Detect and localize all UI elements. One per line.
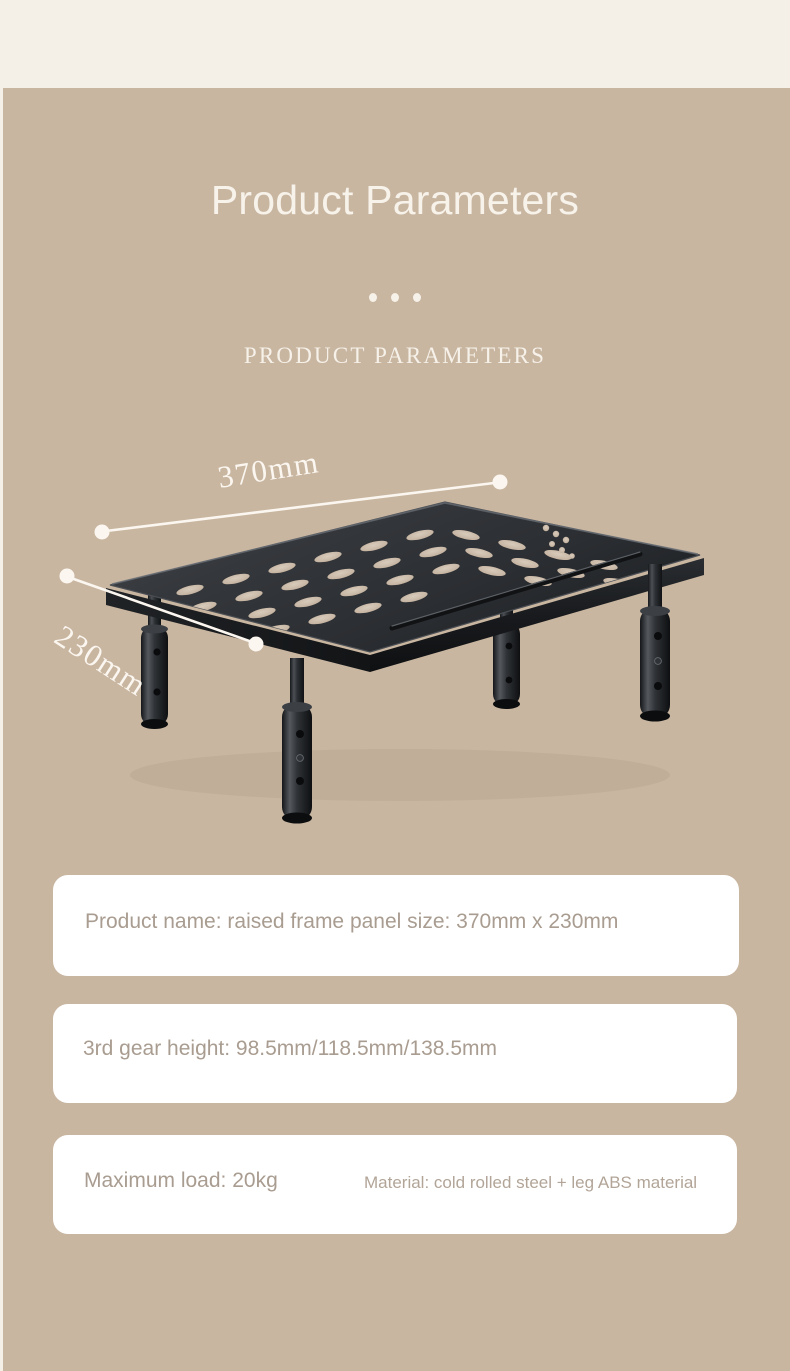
- product-parameters-page: Product Parameters PRODUCT PARAMETERS: [0, 0, 790, 1371]
- spec-gear-height-text: 3rd gear height: 98.5mm/118.5mm/138.5mm: [83, 1037, 497, 1061]
- spec-card-load-material: Maximum load: 20kg Material: cold rolled…: [53, 1135, 737, 1234]
- spec-max-load-text: Maximum load: 20kg: [84, 1169, 278, 1193]
- spec-card-product-name: Product name: raised frame panel size: 3…: [53, 875, 739, 976]
- spec-material-text: Material: cold rolled steel + leg ABS ma…: [364, 1173, 697, 1193]
- dot-icon: [391, 293, 399, 302]
- monitor-riser-graphic: [40, 440, 750, 840]
- dot-icon: [369, 293, 377, 302]
- leg-front-left: [282, 658, 312, 824]
- page-subtitle: PRODUCT PARAMETERS: [0, 343, 790, 369]
- spec-product-name-text: Product name: raised frame panel size: 3…: [85, 910, 618, 934]
- product-illustration: 370mm 230mm: [40, 440, 750, 840]
- dot-icon: [413, 293, 421, 302]
- decorative-dots: [0, 293, 790, 302]
- top-cream-band: [0, 0, 790, 88]
- spec-card-gear-height: 3rd gear height: 98.5mm/118.5mm/138.5mm: [53, 1004, 737, 1103]
